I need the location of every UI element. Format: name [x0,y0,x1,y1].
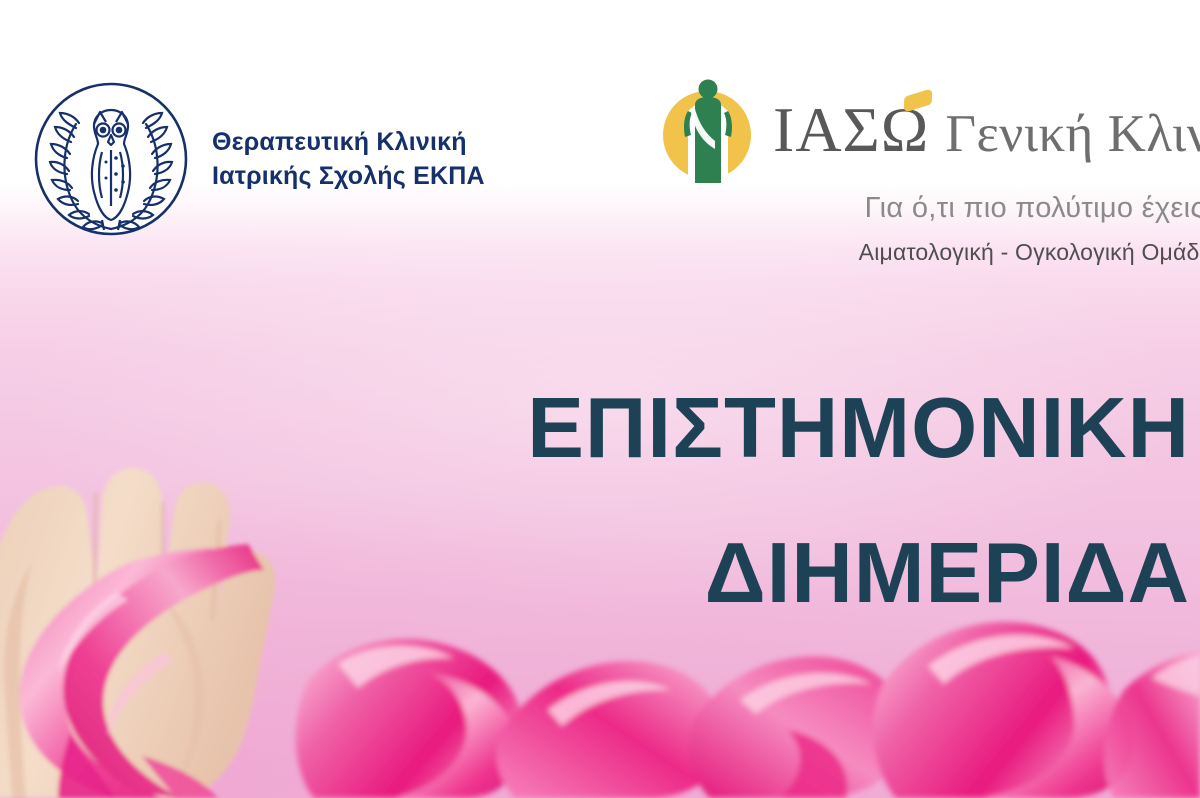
iaso-team-name: Αιματολογική - Ογκολογική Ομάδα [655,239,1200,266]
iaso-wordmark: ΙΑΣΩ Γενική Κλινική [773,98,1200,162]
ekpa-logo-block: Θεραπευτική Κλινική Ιατρικής Σχολής ΕΚΠΑ [32,80,485,238]
ekpa-title-text: Θεραπευτική Κλινική Ιατρικής Σχολής ΕΚΠΑ [212,125,485,194]
ekpa-line-1: Θεραπευτική Κλινική [212,125,485,160]
poster-canvas: Θεραπευτική Κλινική Ιατρικής Σχολής ΕΚΠΑ [0,0,1200,798]
poster-header: Θεραπευτική Κλινική Ιατρικής Σχολής ΕΚΠΑ [0,0,1200,300]
iaso-logo-row: ΙΑΣΩ Γενική Κλινική [655,74,1200,186]
iaso-subtitle: Γενική Κλινική [945,108,1200,161]
iaso-logo-block: ΙΑΣΩ Γενική Κλινική Για ό,τι πιο πολύτιμ… [655,74,1200,266]
ekpa-line-2: Ιατρικής Σχολής ΕΚΠΑ [212,159,485,194]
iaso-name: ΙΑΣΩ [773,98,929,162]
title-line-1: ΕΠΙΣΤΗΜΟΝΙΚΗ [0,386,1200,471]
iaso-figure-circle-icon [655,75,763,187]
title-line-2: ΔΙΗΜΕΡΙΔΑ [0,531,1200,616]
poster-title: ΕΠΙΣΤΗΜΟΝΙΚΗ ΔΙΗΜΕΡΙΔΑ [0,386,1200,616]
owl-laurel-seal-icon [32,80,190,238]
iaso-tagline: Για ό,τι πιο πολύτιμο έχεις. [655,192,1200,225]
